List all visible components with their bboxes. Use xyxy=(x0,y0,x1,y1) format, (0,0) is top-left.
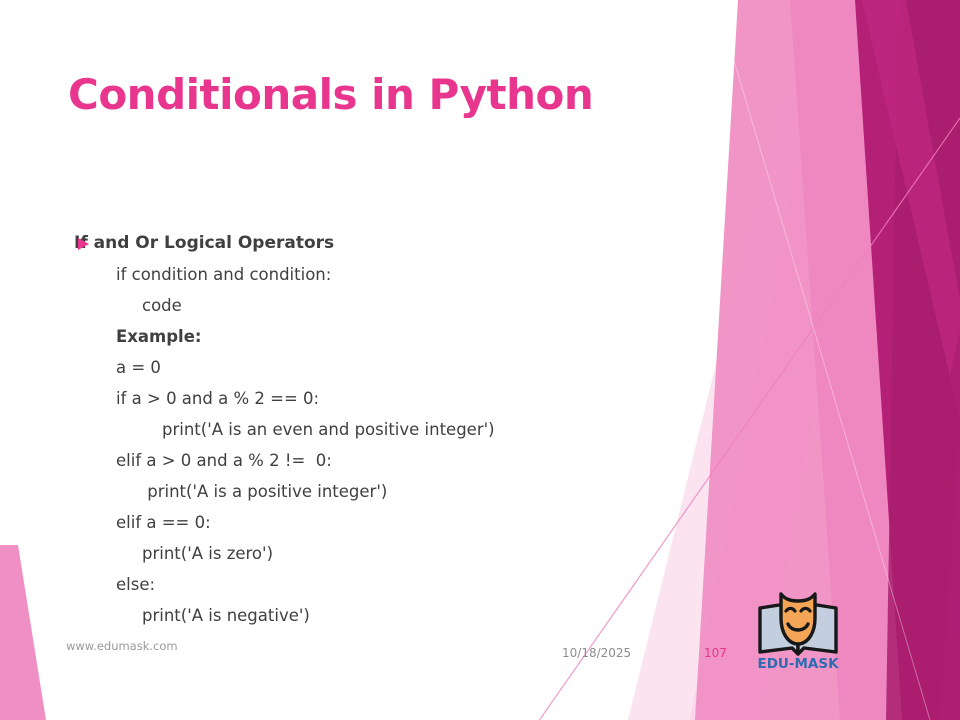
decor-left-wedge xyxy=(0,545,46,720)
code-line: print('A is a positive integer') xyxy=(74,476,674,507)
footer-slide-number: 107 xyxy=(704,646,727,660)
line-text: elif a > 0 and a % 2 != 0: xyxy=(116,445,332,476)
line-text: elif a == 0: xyxy=(116,507,211,538)
code-line: print('A is negative') xyxy=(74,600,674,631)
triangle-bullet-icon xyxy=(78,238,89,250)
slide-body: If and Or Logical Operatorsif condition … xyxy=(74,228,674,631)
decor-right-dark-2 xyxy=(886,0,960,720)
code-line: elif a == 0: xyxy=(74,507,674,538)
line-text: print('A is a positive integer') xyxy=(142,476,387,507)
edu-mask-logo: EDU-MASK xyxy=(752,586,844,672)
decor-right-dark-1 xyxy=(855,0,960,720)
decor-right-bottom-deep xyxy=(905,330,960,720)
theater-mask-icon xyxy=(781,594,815,644)
code-line: code xyxy=(74,290,674,321)
footer-site-url[interactable]: www.edumask.com xyxy=(66,639,178,653)
line-text: print('A is negative') xyxy=(142,600,310,631)
decor-right-mid-accent xyxy=(862,0,960,420)
line-text: code xyxy=(142,290,182,321)
code-line: if a > 0 and a % 2 == 0: xyxy=(74,383,674,414)
code-line: else: xyxy=(74,569,674,600)
code-line: elif a > 0 and a % 2 != 0: xyxy=(74,445,674,476)
code-line: print('A is zero') xyxy=(74,538,674,569)
slide: Conditionals in Python If and Or Logical… xyxy=(0,0,960,720)
line-text: If and Or Logical Operators xyxy=(74,228,334,259)
footer-date: 10/18/2025 xyxy=(562,646,631,660)
line-text: if condition and condition: xyxy=(116,259,331,290)
line-text: Example: xyxy=(116,321,202,352)
line-text: else: xyxy=(116,569,155,600)
code-line: if condition and condition: xyxy=(74,259,674,290)
line-text: if a > 0 and a % 2 == 0: xyxy=(116,383,319,414)
line-text: a = 0 xyxy=(116,352,161,383)
page-title: Conditionals in Python xyxy=(68,70,593,119)
line-text: print('A is an even and positive integer… xyxy=(162,414,495,445)
code-line: Example: xyxy=(74,321,674,352)
code-line: print('A is an even and positive integer… xyxy=(74,414,674,445)
code-line: a = 0 xyxy=(74,352,674,383)
edu-mask-label: EDU-MASK xyxy=(757,656,839,672)
line-text: print('A is zero') xyxy=(142,538,273,569)
bullet-line: If and Or Logical Operators xyxy=(74,228,674,259)
